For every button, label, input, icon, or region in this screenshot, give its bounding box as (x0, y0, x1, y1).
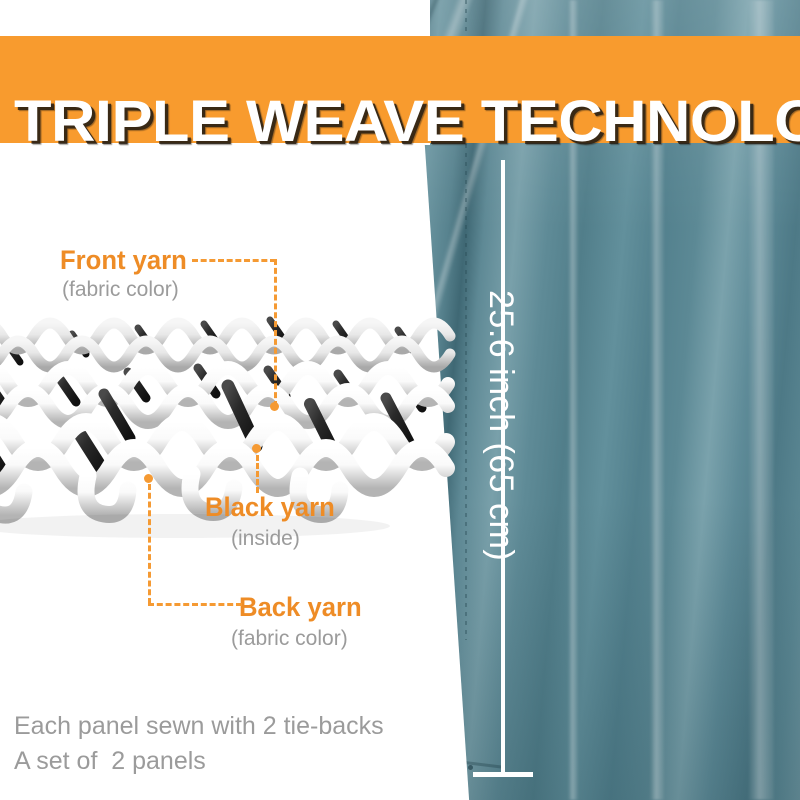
callout-front-yarn-title: Front yarn (60, 245, 187, 276)
weave-row-back (0, 323, 450, 367)
headline-banner: TRIPLE WEAVE TECHNOLOGY (0, 36, 800, 143)
leader-line-front-yarn-horizontal (192, 259, 276, 262)
weave-row-front (0, 422, 446, 488)
footnote-line-2: A set of 2 panels (14, 744, 206, 779)
leader-line-back-yarn-vertical (148, 484, 151, 604)
callout-black-yarn-title: Black yarn (205, 492, 335, 523)
pointer-dot-front-yarn (270, 402, 279, 411)
callout-back-yarn-title: Back yarn (239, 592, 362, 623)
measurement-end-cap (473, 772, 533, 777)
leader-line-back-yarn-horizontal (148, 603, 242, 606)
page-title: TRIPLE WEAVE TECHNOLOGY (14, 86, 800, 158)
pointer-dot-back-yarn (144, 474, 153, 483)
footnote-line-1: Each panel sewn with 2 tie-backs (14, 709, 384, 744)
curtain-bottom-shadow (418, 500, 800, 800)
leader-line-black-yarn-vertical (256, 455, 259, 493)
callout-front-yarn-subtitle: (fabric color) (62, 278, 179, 302)
curtain-hem-detail (468, 765, 473, 770)
leader-line-front-yarn-vertical (274, 259, 277, 407)
measurement-label: 25.6 inch (65 cm) (481, 290, 520, 561)
pointer-dot-black-yarn (252, 444, 261, 453)
callout-black-yarn-subtitle: (inside) (231, 527, 300, 551)
product-feature-image: TRIPLE WEAVE TECHNOLOGY (0, 0, 800, 800)
callout-back-yarn-subtitle: (fabric color) (231, 627, 348, 651)
